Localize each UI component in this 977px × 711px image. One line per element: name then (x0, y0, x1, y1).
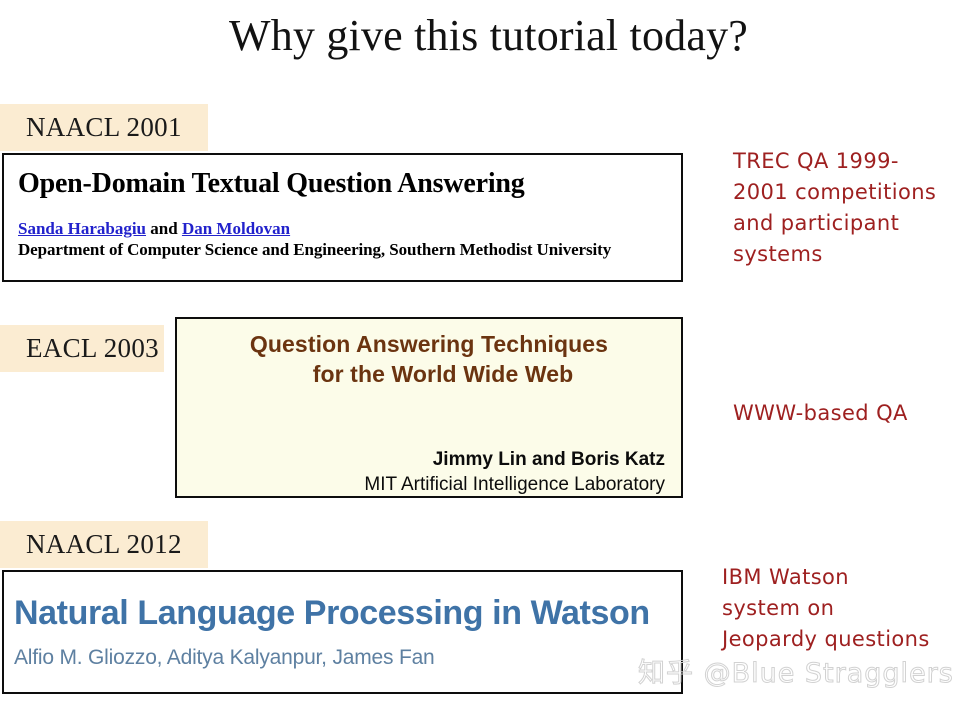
author-link-dan-moldovan[interactable]: Dan Moldovan (182, 219, 290, 238)
watermark: 知乎 @Blue Stragglers (638, 657, 954, 691)
paper-thumbnail-qa-techniques-www: Question Answering Techniques for the Wo… (175, 317, 683, 498)
paper-title-line-2: for the World Wide Web (193, 359, 665, 389)
author-joiner: and (146, 219, 182, 238)
annotation-www-based-qa: WWW-based QA (733, 398, 977, 429)
paper-affiliation: MIT Artificial Intelligence Laboratory (193, 472, 665, 498)
page-title: Why give this tutorial today? (0, 6, 977, 66)
annotation-trec-qa: TREC QA 1999- 2001 competitions and part… (733, 146, 977, 270)
venue-label-eacl-2003: EACL 2003 (0, 325, 164, 372)
paper-authors: Sanda Harabagiu and Dan Moldovan (18, 218, 667, 239)
paper-title: Open-Domain Textual Question Answering (18, 167, 667, 201)
paper-authors: Alfio M. Gliozzo, Aditya Kalyanpur, Jame… (14, 644, 671, 672)
paper-affiliation: Department of Computer Science and Engin… (18, 239, 667, 261)
paper-authors: Jimmy Lin and Boris Katz (193, 447, 665, 472)
paper-title: Question Answering Techniques for the Wo… (193, 329, 665, 389)
paper-thumbnail-nlp-in-watson: Natural Language Processing in Watson Al… (2, 570, 683, 694)
paper-thumbnail-open-domain-textual-qa: Open-Domain Textual Question Answering S… (2, 153, 683, 282)
venue-label-text: NAACL 2001 (26, 112, 182, 143)
annotation-ibm-watson: IBM Watson system on Jeopardy questions (722, 562, 977, 655)
venue-label-text: NAACL 2012 (26, 529, 182, 560)
paper-title-line-1: Question Answering Techniques (250, 331, 608, 357)
venue-label-naacl-2012: NAACL 2012 (0, 521, 208, 568)
venue-label-naacl-2001: NAACL 2001 (0, 104, 208, 151)
venue-label-text: EACL 2003 (26, 333, 159, 364)
paper-title: Natural Language Processing in Watson (14, 592, 671, 634)
author-link-sanda-harabagiu[interactable]: Sanda Harabagiu (18, 219, 146, 238)
